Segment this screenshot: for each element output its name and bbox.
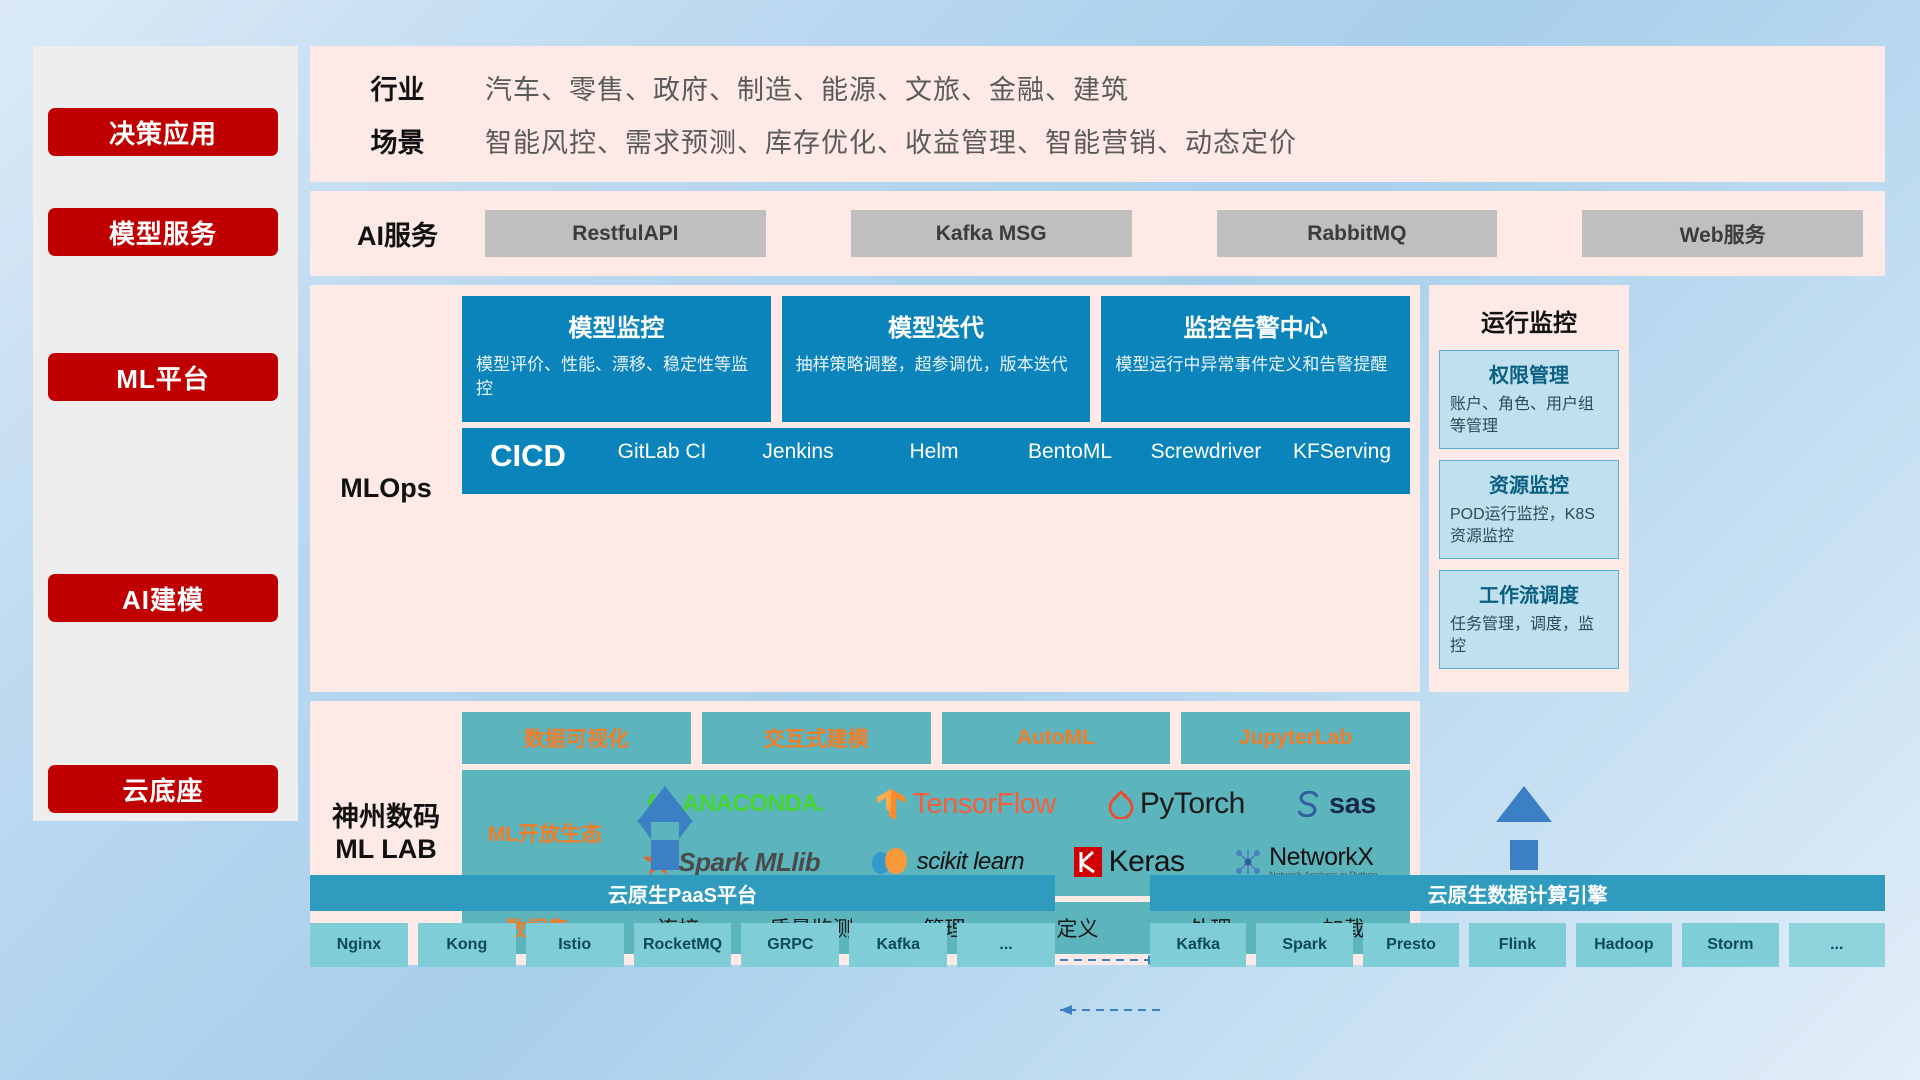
engine-chip-kafka[interactable]: Kafka xyxy=(1150,923,1246,967)
paas-chip-rocketmq[interactable]: RocketMQ xyxy=(634,923,732,967)
arrow-dashed-left-head xyxy=(1060,1005,1072,1015)
arrow-stem-engine xyxy=(1510,840,1538,870)
paas-chip-istio[interactable]: Istio xyxy=(526,923,624,967)
engine-chip-spark[interactable]: Spark xyxy=(1256,923,1352,967)
diagram-canvas: 决策应用 模型服务 ML平台 AI建模 云底座 行业 汽车、零售、政府、制造、能… xyxy=(0,0,1920,1080)
arrow-head-paas xyxy=(637,786,693,822)
cloud-base-section: 云原生PaaS平台 Nginx Kong Istio RocketMQ GRPC… xyxy=(310,875,1885,967)
engine-chip-list: Kafka Spark Presto Flink Hadoop Storm ..… xyxy=(1150,923,1885,967)
paas-chip-list: Nginx Kong Istio RocketMQ GRPC Kafka ... xyxy=(310,923,1055,967)
cloud-gap xyxy=(1055,875,1150,967)
paas-chip-nginx[interactable]: Nginx xyxy=(310,923,408,967)
engine-chip-storm[interactable]: Storm xyxy=(1682,923,1778,967)
paas-chip-kong[interactable]: Kong xyxy=(418,923,516,967)
paas-chip-grpc[interactable]: GRPC xyxy=(741,923,839,967)
engine-title: 云原生数据计算引擎 xyxy=(1150,875,1885,911)
paas-chip-more[interactable]: ... xyxy=(957,923,1055,967)
paas-title: 云原生PaaS平台 xyxy=(310,875,1055,911)
paas-chip-kafka[interactable]: Kafka xyxy=(849,923,947,967)
arrow-head-engine xyxy=(1496,786,1552,822)
engine-chip-hadoop[interactable]: Hadoop xyxy=(1576,923,1672,967)
engine-chip-flink[interactable]: Flink xyxy=(1469,923,1565,967)
cloud-bars-row: 云原生PaaS平台 Nginx Kong Istio RocketMQ GRPC… xyxy=(310,875,1885,967)
paas-column: 云原生PaaS平台 Nginx Kong Istio RocketMQ GRPC… xyxy=(310,875,1055,967)
engine-chip-more[interactable]: ... xyxy=(1789,923,1885,967)
engine-column: 云原生数据计算引擎 Kafka Spark Presto Flink Hadoo… xyxy=(1150,875,1885,967)
arrow-stem-paas xyxy=(651,840,679,870)
engine-chip-presto[interactable]: Presto xyxy=(1363,923,1459,967)
